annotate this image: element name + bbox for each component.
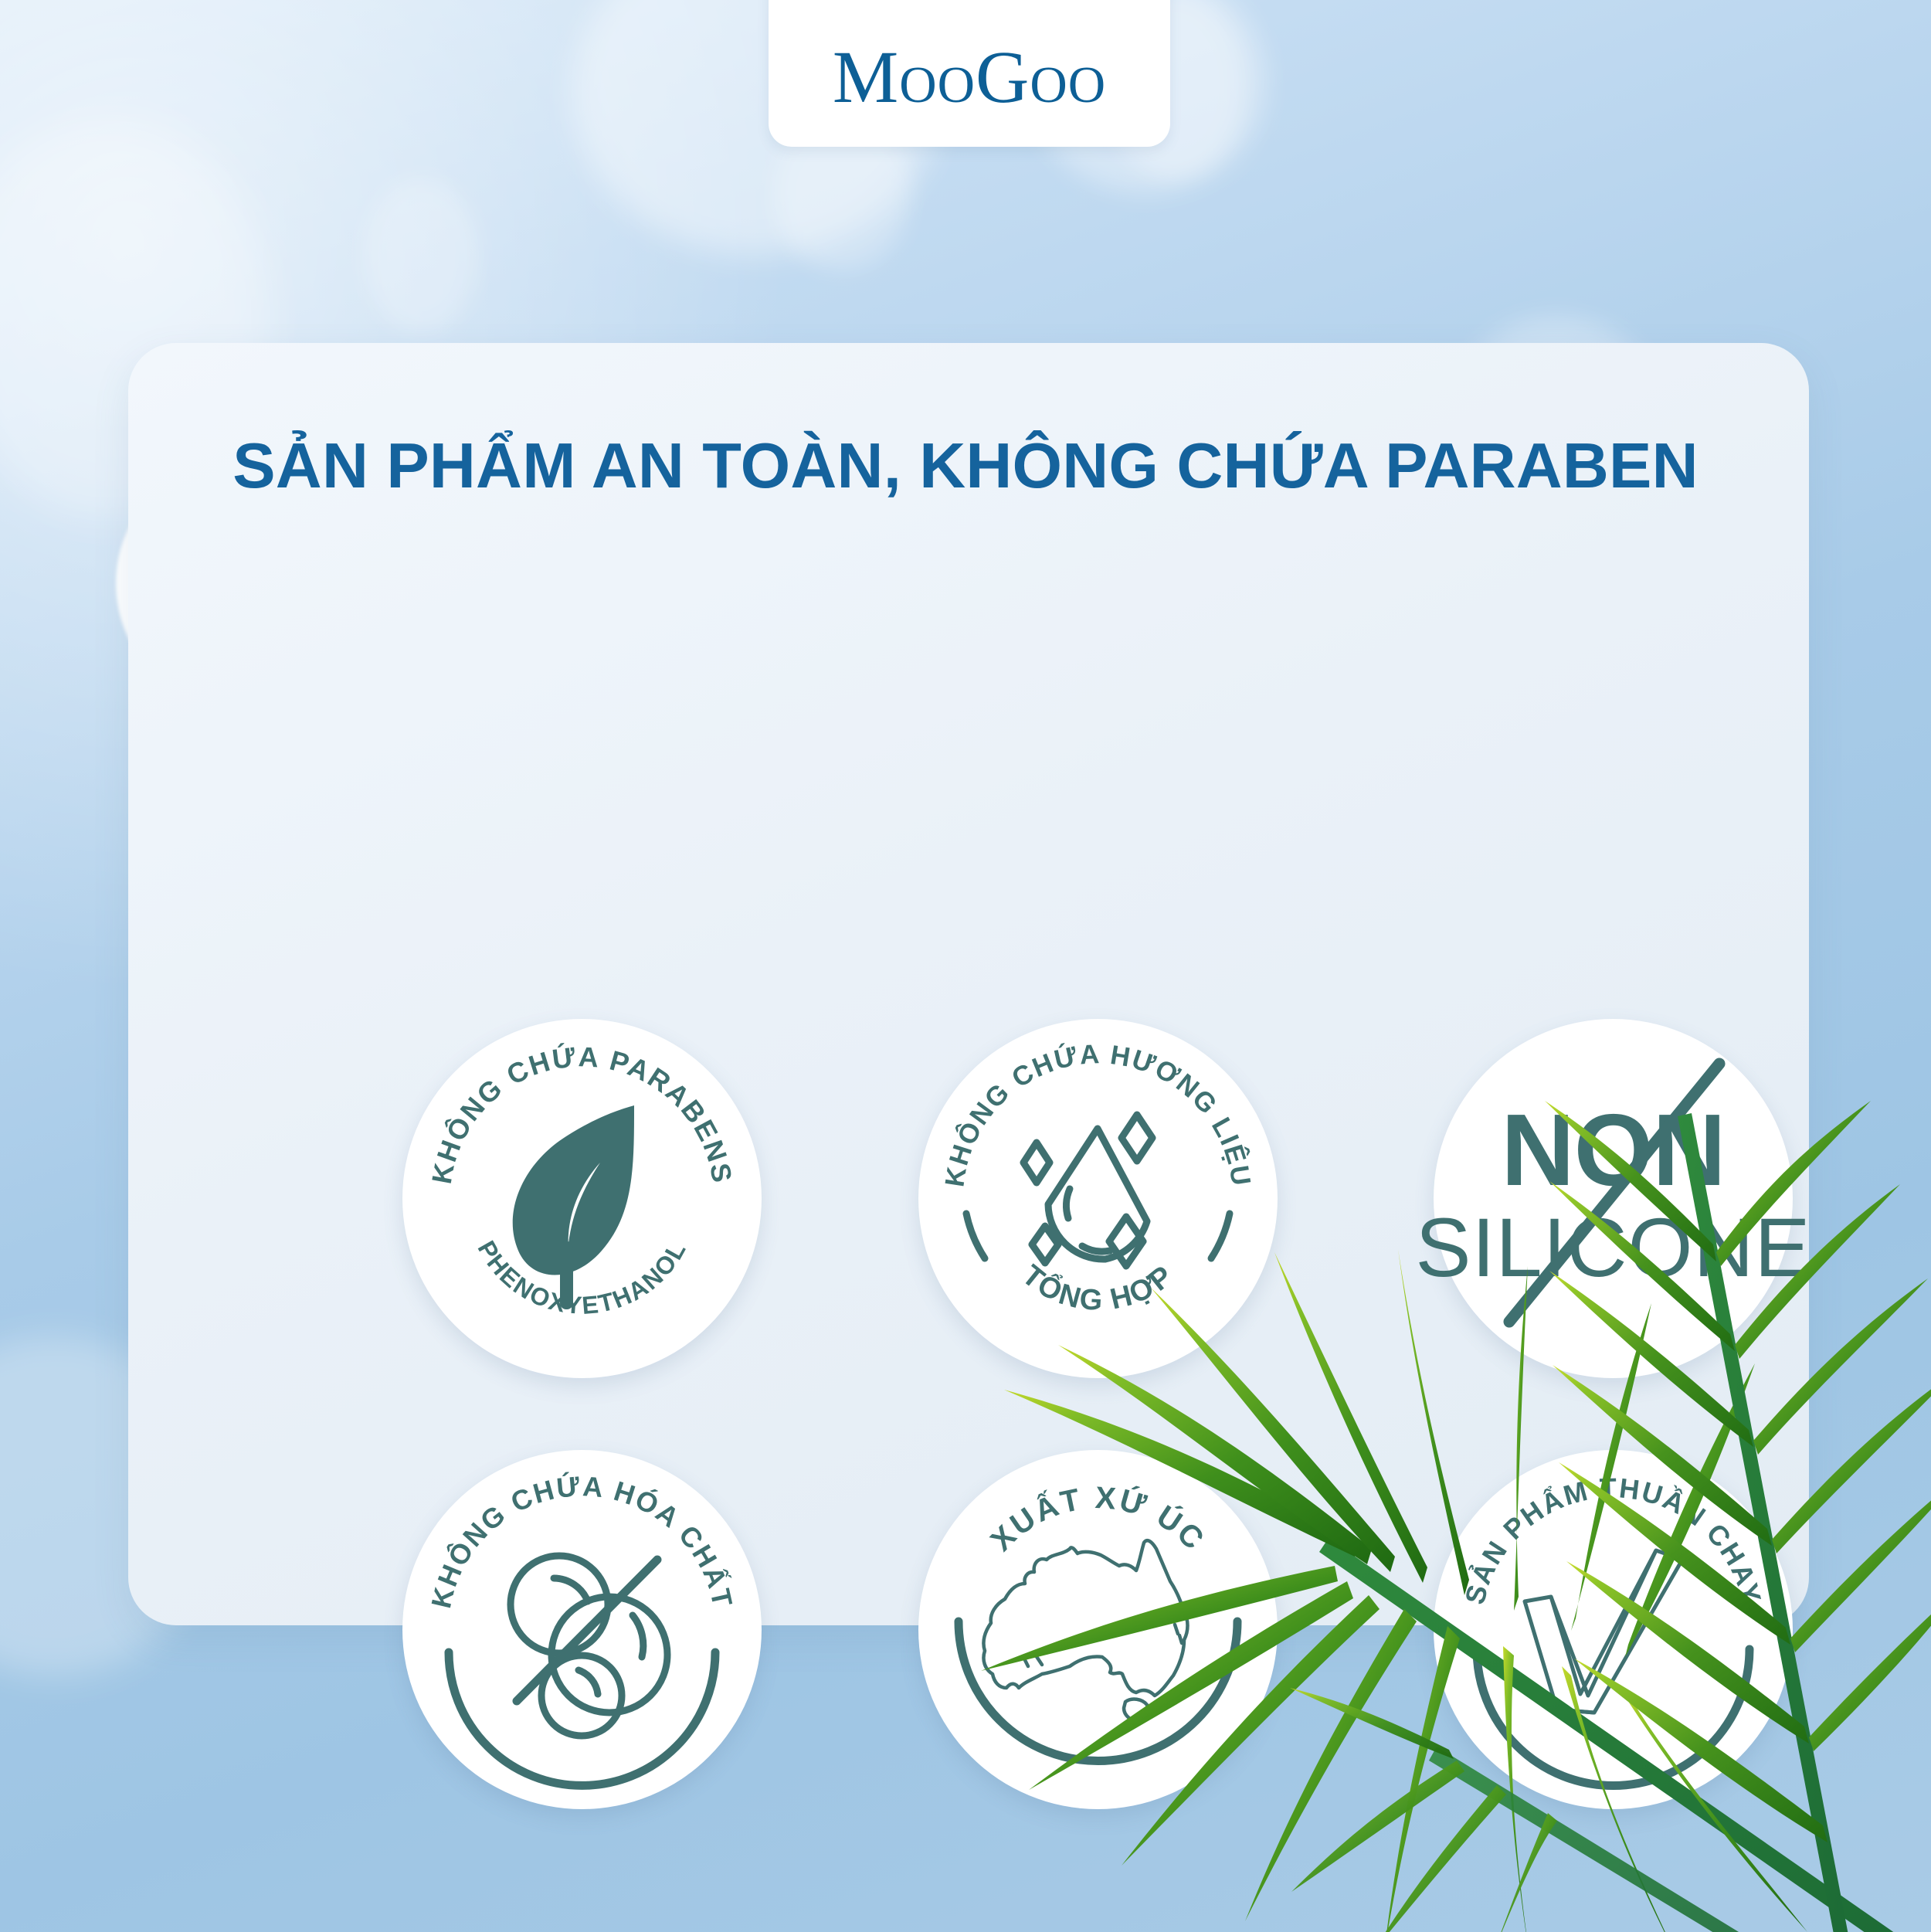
svg-text:TỔNG HỢP: TỔNG HỢP xyxy=(1016,1259,1180,1317)
brand-logo-plate: MooGoo xyxy=(769,0,1170,147)
badge-no-parabens[interactable]: KHÔNG CHỨA PARABENS PHENOXYETHANOL KHÔNG… xyxy=(402,1019,762,1378)
badge-made-in-australia[interactable]: XUẤT XỨ ÚC XUẤT XỨ ÚC xyxy=(918,1450,1278,1809)
page-title: SẢN PHẨM AN TOÀN, KHÔNG CHỨA PARABEN xyxy=(0,429,1931,503)
badge-non-silicone[interactable]: NON SILICONE xyxy=(1434,1019,1793,1378)
brand-logo-text: MooGoo xyxy=(833,40,1106,147)
badge-row: KHÔNG CHỨA HÓA CHẤT KH xyxy=(402,1450,1793,1809)
svg-text:KHÔNG CHỨA HƯƠNG LIỆU: KHÔNG CHỨA HƯƠNG LIỆU xyxy=(939,1039,1256,1189)
crossed-bubbles-icon xyxy=(511,1556,667,1736)
badge-row: KHÔNG CHỨA PARABENS PHENOXYETHANOL KHÔNG… xyxy=(402,1019,1793,1378)
bottom-arc-icon xyxy=(959,1621,1237,1761)
svg-text:XUẤT XỨ ÚC: XUẤT XỨ ÚC xyxy=(984,1481,1211,1558)
content-card: KHÔNG CHỨA PARABENS PHENOXYETHANOL KHÔNG… xyxy=(128,343,1809,1625)
svg-text:SẢN PHẨM THUẦN CHAY: SẢN PHẨM THUẦN CHAY xyxy=(1458,1472,1767,1608)
badge-grid: KHÔNG CHỨA PARABENS PHENOXYETHANOL KHÔNG… xyxy=(402,1019,1793,1809)
checkmark-icon xyxy=(1525,1550,1682,1713)
promo-graphic: MooGoo KHÔNG CHỨA PARABENS xyxy=(0,0,1931,1932)
badge-vegan[interactable]: SẢN PHẨM THUẦN CHAY SẢN PHẨM THUẦN CHAY xyxy=(1434,1450,1793,1809)
strike-through-icon xyxy=(1509,1064,1719,1322)
badge-no-synthetic-fragrance[interactable]: KHÔNG CHỨA HƯƠNG LIỆU TỔNG HỢP xyxy=(918,1019,1278,1378)
badge-no-chemicals[interactable]: KHÔNG CHỨA HÓA CHẤT KH xyxy=(402,1450,762,1809)
bottom-arc-icon xyxy=(1477,1649,1749,1786)
australia-map-icon xyxy=(983,1540,1187,1722)
